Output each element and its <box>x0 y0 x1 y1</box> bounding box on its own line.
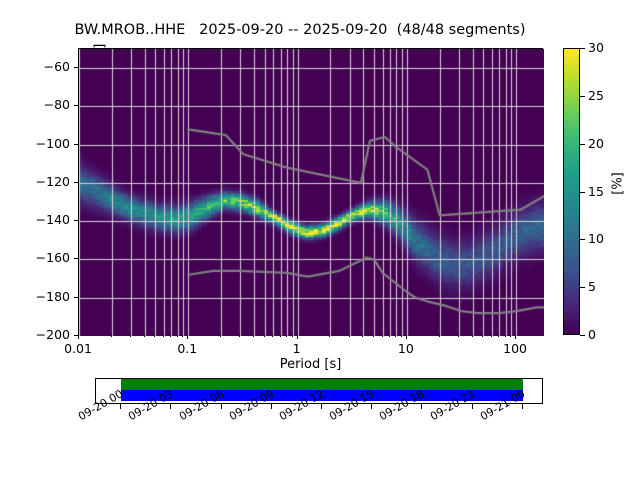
y-tickmark-0 <box>74 67 78 68</box>
timeline-tickmark-6 <box>421 404 422 409</box>
x-minor-tickmark <box>472 335 473 337</box>
timeline-bar-green <box>121 379 523 390</box>
colorbar-tick-4: 20 <box>588 136 618 151</box>
x-minor-tickmark <box>505 335 506 337</box>
colorbar-tick-5: 25 <box>588 88 618 103</box>
x-minor-tickmark <box>389 335 390 337</box>
x-minor-tickmark <box>395 335 396 337</box>
ppsd-histogram <box>79 49 544 336</box>
colorbar-tick-0: 0 <box>588 327 618 342</box>
x-minor-tickmark <box>286 335 287 337</box>
x-tickmark-3 <box>406 335 407 339</box>
y-tick-5: −160 <box>26 250 70 265</box>
x-minor-tickmark <box>491 335 492 337</box>
x-minor-tickmark <box>144 335 145 337</box>
y-tickmark-1 <box>74 105 78 106</box>
y-tick-2: −100 <box>26 136 70 151</box>
colorbar-tickmark-5 <box>580 96 585 97</box>
colorbar-title: [%] <box>611 164 626 204</box>
x-minor-tickmark <box>292 335 293 337</box>
x-tick-2: 1 <box>267 341 327 356</box>
y-tickmark-4 <box>74 220 78 221</box>
x-minor-tickmark <box>182 335 183 337</box>
x-minor-tickmark <box>401 335 402 337</box>
x-minor-tickmark <box>154 335 155 337</box>
x-minor-tickmark <box>510 335 511 337</box>
colorbar <box>563 48 580 335</box>
y-tickmark-3 <box>74 182 78 183</box>
timeline-tickmark-0 <box>120 404 121 409</box>
timeline-tickmark-3 <box>271 404 272 409</box>
y-tick-6: −180 <box>26 289 70 304</box>
x-minor-tickmark <box>220 335 221 337</box>
x-minor-tickmark <box>272 335 273 337</box>
x-minor-tickmark <box>498 335 499 337</box>
x-minor-tickmark <box>373 335 374 337</box>
x-minor-tickmark <box>170 335 171 337</box>
y-tick-3: −120 <box>26 174 70 189</box>
x-minor-tickmark <box>349 335 350 337</box>
x-minor-tickmark <box>280 335 281 337</box>
x-tick-4: 100 <box>485 341 545 356</box>
x-minor-tickmark <box>329 335 330 337</box>
colorbar-tick-1: 5 <box>588 279 618 294</box>
x-tickmark-4 <box>515 335 516 339</box>
x-minor-tickmark <box>439 335 440 337</box>
page-title: BW.MROB..HHE 2025-09-20 -- 2025-09-20 (4… <box>0 22 600 38</box>
timeline-tickmark-7 <box>472 404 473 409</box>
colorbar-tick-2: 10 <box>588 231 618 246</box>
x-minor-tickmark <box>482 335 483 337</box>
colorbar-tickmark-3 <box>580 192 585 193</box>
y-tickmark-2 <box>74 144 78 145</box>
x-tickmark-0 <box>78 335 79 339</box>
x-minor-tickmark <box>111 335 112 337</box>
x-tick-0: 0.01 <box>48 341 108 356</box>
timeline-tickmark-5 <box>371 404 372 409</box>
y-tickmark-6 <box>74 297 78 298</box>
x-minor-tickmark <box>458 335 459 337</box>
x-axis-title: Period [s] <box>78 357 543 372</box>
ppsd-plot-area[interactable] <box>78 48 543 335</box>
x-minor-tickmark <box>177 335 178 337</box>
timeline-tickmark-2 <box>221 404 222 409</box>
colorbar-tickmark-1 <box>580 287 585 288</box>
timeline-tickmark-4 <box>321 404 322 409</box>
x-minor-tickmark <box>239 335 240 337</box>
timeline-tickmark-8 <box>522 404 523 409</box>
y-tickmark-5 <box>74 258 78 259</box>
x-tickmark-1 <box>187 335 188 339</box>
x-tick-1: 0.1 <box>157 341 217 356</box>
colorbar-tick-6: 30 <box>588 40 618 55</box>
y-tick-0: −60 <box>26 59 70 74</box>
y-tick-4: −140 <box>26 212 70 227</box>
x-tick-3: 10 <box>376 341 436 356</box>
y-tick-1: −80 <box>26 97 70 112</box>
x-tickmark-2 <box>297 335 298 339</box>
colorbar-tickmark-6 <box>580 48 585 49</box>
x-minor-tickmark <box>130 335 131 337</box>
x-minor-tickmark <box>382 335 383 337</box>
x-minor-tickmark <box>253 335 254 337</box>
y-tick-7: −200 <box>26 327 70 342</box>
x-minor-tickmark <box>362 335 363 337</box>
x-minor-tickmark <box>264 335 265 337</box>
colorbar-tickmark-0 <box>580 335 585 336</box>
colorbar-tickmark-4 <box>580 144 585 145</box>
timeline-tickmark-1 <box>170 404 171 409</box>
x-minor-tickmark <box>163 335 164 337</box>
colorbar-tickmark-2 <box>580 239 585 240</box>
